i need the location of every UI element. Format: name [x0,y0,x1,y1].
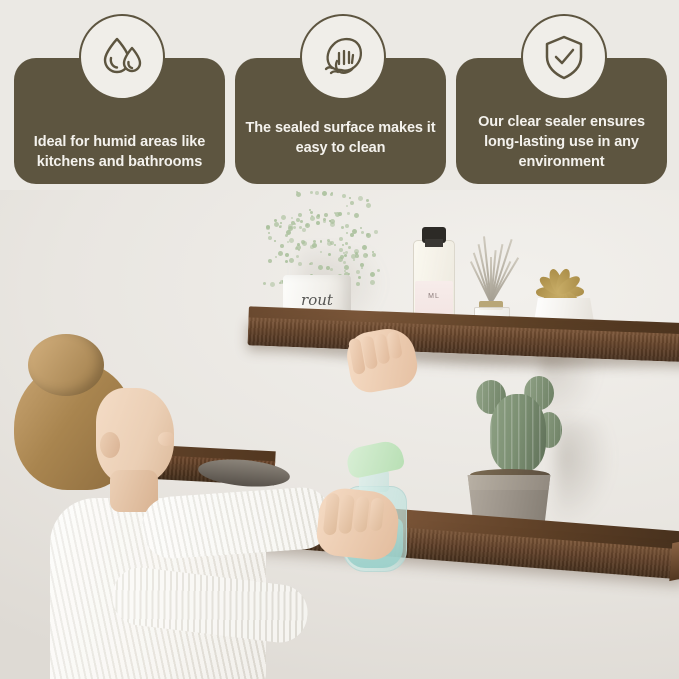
feature-card-text: Our clear sealer ensures long-lasting us… [456,112,667,184]
planter-script-text: rout [289,291,345,309]
pot-rim [458,474,560,490]
cactus-plant [468,370,568,474]
child-figure [0,340,292,679]
water-drops-icon [79,14,165,100]
feature-card-row: Ideal for humid areas like kitchens and … [0,0,679,192]
bottle-neck [425,239,443,247]
child-upper-arm [140,485,334,560]
bottle-label-text: ML [415,293,453,300]
lifestyle-photo: rout ML H [0,190,679,679]
cactus-body [490,394,546,472]
child-hair-bun [28,334,104,396]
greenery-plant [258,195,383,283]
spray-trigger [344,439,405,480]
child-ear [100,432,120,458]
feature-card-text: The sealed surface makes it easy to clea… [235,118,446,184]
feature-card-text: Ideal for humid areas like kitchens and … [14,132,225,184]
shield-check-icon [521,14,607,100]
hand-wiping-cloth-icon [300,14,386,100]
product-infographic: Ideal for humid areas like kitchens and … [0,0,679,679]
child-nose [158,432,174,446]
